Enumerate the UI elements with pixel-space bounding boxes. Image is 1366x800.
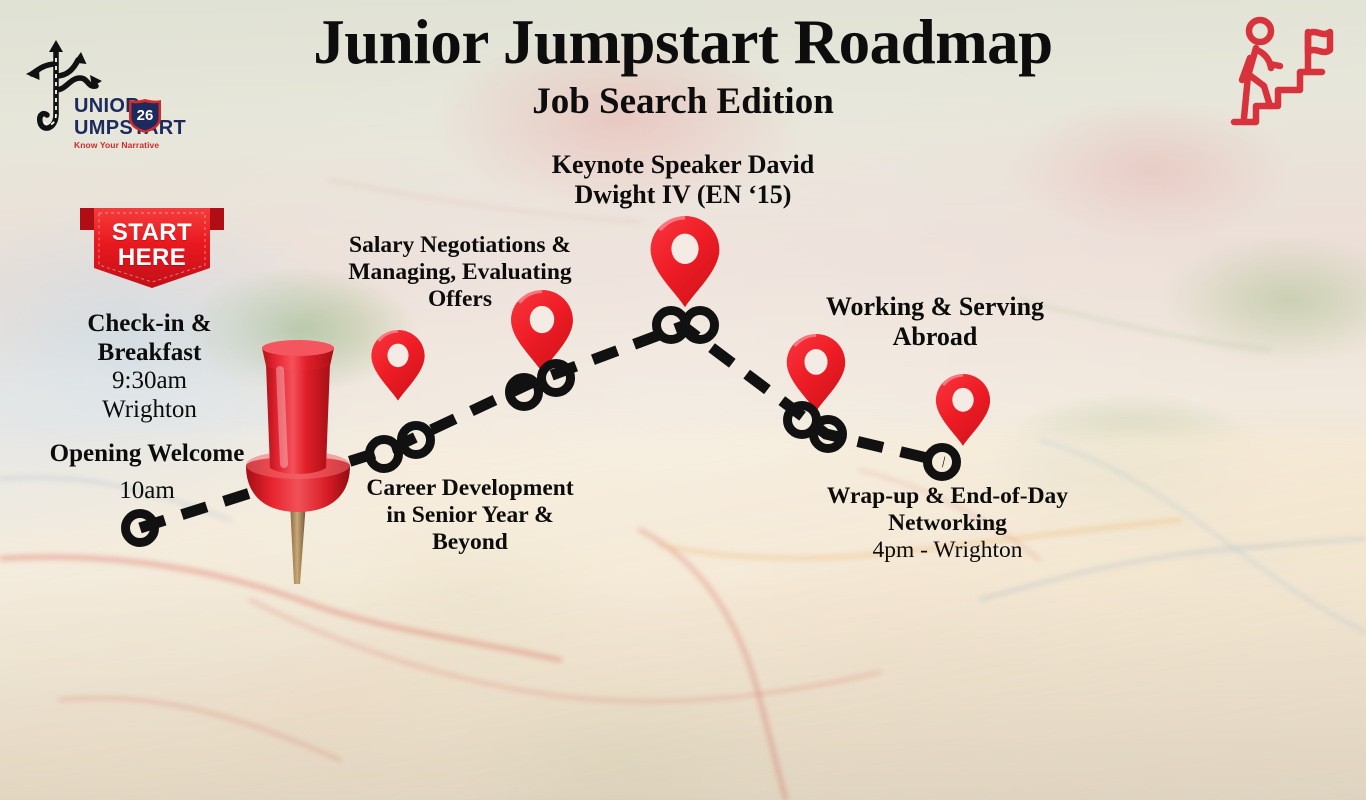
waypoint-keynote-b[interactable] — [686, 311, 715, 340]
opening-title: Opening Welcome — [22, 440, 272, 469]
map-pin-wrap-up[interactable] — [936, 374, 990, 446]
label-working-serving-abroad: Working & Serving Abroad — [790, 292, 1080, 351]
opening-time: 10am — [22, 477, 272, 506]
keynote-line-2: Dwight IV (EN ‘15) — [488, 180, 878, 210]
salary-line-3: Offers — [320, 286, 600, 313]
label-salary-negotiations: Salary Negotiations & Managing, Evaluati… — [320, 232, 600, 312]
map-pin-career-development[interactable] — [371, 330, 424, 401]
label-career-development: Career Development in Senior Year & Beyo… — [340, 475, 600, 555]
checkin-place: Wrighton — [32, 396, 267, 425]
checkin-line-2: Breakfast — [32, 339, 267, 368]
abroad-line-2: Abroad — [790, 322, 1080, 352]
salary-line-1: Salary Negotiations & — [320, 232, 600, 259]
checkin-time: 9:30am — [32, 367, 267, 396]
wrap-line-1: Wrap-up & End-of-Day — [800, 483, 1095, 510]
career-line-3: Beyond — [340, 529, 600, 556]
roadmap-infographic: UNIOR UMPSTART Know Your Narrative 26 Ju… — [0, 0, 1366, 800]
label-opening-welcome: Opening Welcome 10am — [22, 440, 272, 505]
waypoint-wrapup[interactable] — [928, 448, 957, 477]
label-keynote-speaker: Keynote Speaker David Dwight IV (EN ‘15) — [488, 150, 878, 209]
wrap-line-2: Networking — [800, 510, 1095, 537]
checkin-line-1: Check-in & — [32, 310, 267, 339]
wrap-time: 4pm - Wrighton — [800, 537, 1095, 564]
map-pin-keynote[interactable] — [651, 216, 720, 307]
career-line-2: in Senior Year & — [340, 502, 600, 529]
abroad-line-1: Working & Serving — [790, 292, 1080, 322]
keynote-line-1: Keynote Speaker David — [488, 150, 878, 180]
label-wrap-up-networking: Wrap-up & End-of-Day Networking 4pm - Wr… — [800, 483, 1095, 563]
salary-line-2: Managing, Evaluating — [320, 259, 600, 286]
career-line-1: Career Development — [340, 475, 600, 502]
waypoint-career-a[interactable] — [370, 440, 399, 469]
label-check-in-breakfast: Check-in & Breakfast 9:30am Wrighton — [32, 310, 267, 424]
